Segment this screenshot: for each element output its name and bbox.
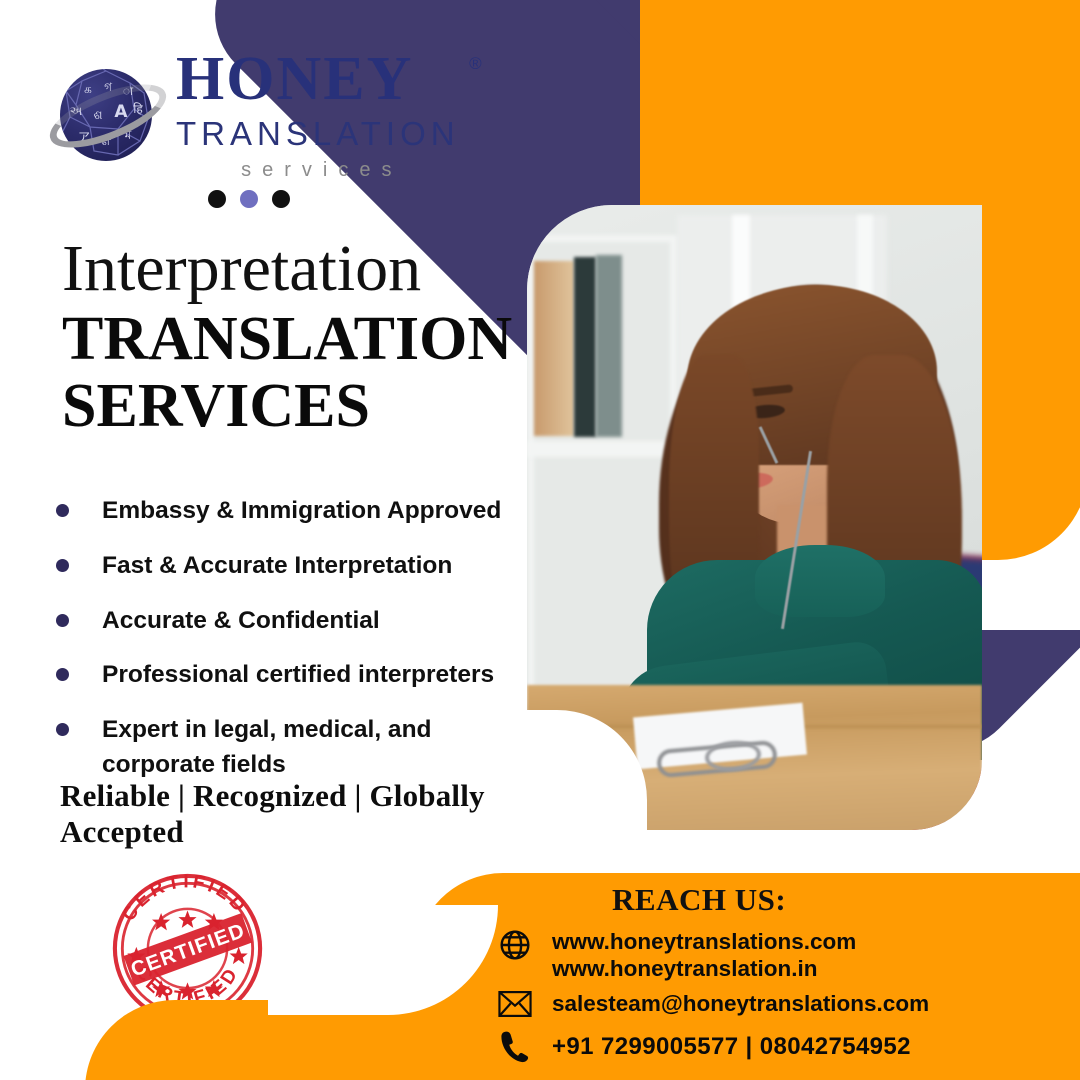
- dot-3: [272, 190, 290, 208]
- phone-icon: [494, 1030, 536, 1064]
- list-item: Fast & Accurate Interpretation: [56, 549, 526, 584]
- list-item: Accurate & Confidential: [56, 604, 526, 639]
- registered-trademark-icon: ®: [469, 54, 482, 74]
- feature-list: Embassy & Immigration Approved Fast & Ac…: [56, 494, 526, 803]
- dot-2: [240, 190, 258, 208]
- list-item: Expert in legal, medical, and corporate …: [56, 713, 526, 783]
- phone-number[interactable]: +91 7299005577 | 08042754952: [552, 1032, 911, 1061]
- brand-name-tertiary: services: [176, 159, 460, 182]
- dot-1: [208, 190, 226, 208]
- bullet-icon: [56, 559, 69, 572]
- feature-label: Professional certified interpreters: [102, 658, 494, 693]
- bullet-icon: [56, 614, 69, 627]
- decorative-dots: [208, 190, 290, 208]
- brand-name-secondary: TRANSLATION: [176, 115, 460, 153]
- website-primary[interactable]: www.honeytranslations.com: [552, 929, 856, 954]
- feature-label: Expert in legal, medical, and corporate …: [102, 713, 447, 783]
- brand-name-primary: HONEY: [176, 48, 460, 110]
- contact-row-phone[interactable]: +91 7299005577 | 08042754952: [494, 1030, 911, 1064]
- list-item: Professional certified interpreters: [56, 658, 526, 693]
- tagline: Reliable | Recognized | Globally Accepte…: [60, 778, 530, 850]
- brand-logo[interactable]: க গ ा અ ଶ A हि ア எ ম: [52, 48, 460, 182]
- headline-main: TRANSLATION SERVICES: [62, 306, 512, 440]
- bullet-icon: [56, 668, 69, 681]
- hero-photo: [527, 205, 982, 830]
- reach-us-heading: REACH US:: [612, 882, 786, 918]
- feature-label: Accurate & Confidential: [102, 604, 380, 639]
- globe-icon: [494, 928, 536, 962]
- website-links[interactable]: www.honeytranslations.com www.honeytrans…: [552, 928, 856, 983]
- headline-line-1: TRANSLATION: [62, 305, 512, 373]
- contact-row-email[interactable]: salesteam@honeytranslations.com: [494, 990, 929, 1018]
- svg-text:க: க: [84, 82, 92, 96]
- bullet-icon: [56, 504, 69, 517]
- feature-label: Embassy & Immigration Approved: [102, 494, 501, 529]
- envelope-icon: [494, 990, 536, 1018]
- contact-row-website[interactable]: www.honeytranslations.com www.honeytrans…: [494, 928, 856, 983]
- poster-canvas: க গ ा અ ଶ A हि ア எ ম: [0, 0, 1080, 1080]
- feature-label: Fast & Accurate Interpretation: [102, 549, 452, 584]
- bullet-icon: [56, 723, 69, 736]
- website-secondary[interactable]: www.honeytranslation.in: [552, 955, 856, 982]
- list-item: Embassy & Immigration Approved: [56, 494, 526, 529]
- headline-line-2: SERVICES: [62, 373, 512, 440]
- headline-script: Interpretation: [62, 236, 421, 302]
- globe-languages-icon: க গ ा અ ଶ A हि ア எ ম: [52, 59, 164, 171]
- email-address[interactable]: salesteam@honeytranslations.com: [552, 990, 929, 1017]
